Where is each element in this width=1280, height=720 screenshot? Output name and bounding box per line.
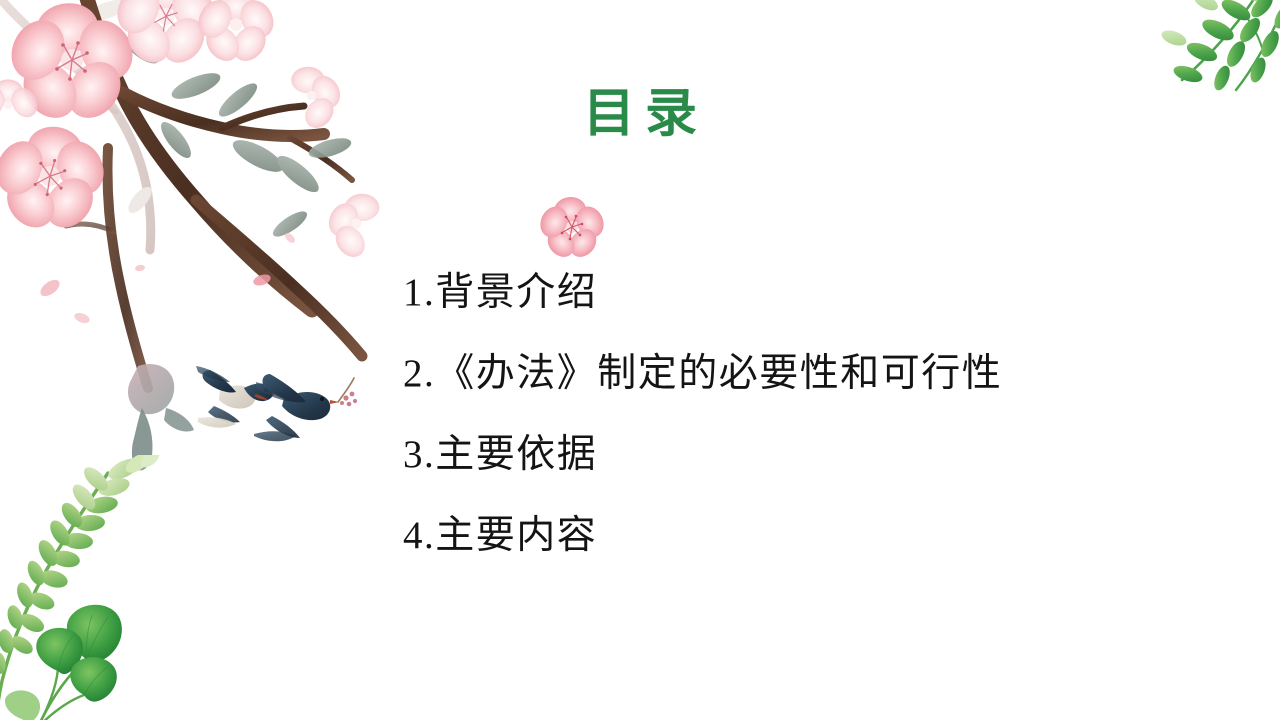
sprig-leaves [1160,0,1280,92]
agenda-item-1[interactable]: 1.背景介绍 [403,252,1163,333]
swallow-bird-1 [196,366,280,428]
agenda-item-2[interactable]: 2.《办法》制定的必要性和可行性 [403,333,1163,414]
agenda-list: 1.背景介绍 2.《办法》制定的必要性和可行性 3.主要依据 4.主要内容 [403,252,1163,576]
page-title: 目录 [573,88,707,140]
swallow-birds-decoration [128,352,363,477]
agenda-item-3[interactable]: 3.主要依据 [403,414,1163,495]
ginkgo-leaf-cluster [5,605,122,720]
slide-title-block: 目录 [0,88,1280,140]
falling-petals [38,231,297,325]
hanging-bloom [128,364,194,470]
fern-leaflets [0,455,162,675]
green-foliage-decoration [0,455,167,720]
agenda-item-4[interactable]: 4.主要内容 [403,495,1163,576]
swallow-bird-2 [254,374,357,441]
cherry-blossom-branch-decoration [0,0,410,488]
pink-blossom-accent-decoration [534,196,610,260]
presentation-slide: 目录 1.背景介绍 2.《办法》制定的必要性和可行性 3.主要依据 4.主要内容 [0,0,1280,720]
main-branch [66,0,362,388]
